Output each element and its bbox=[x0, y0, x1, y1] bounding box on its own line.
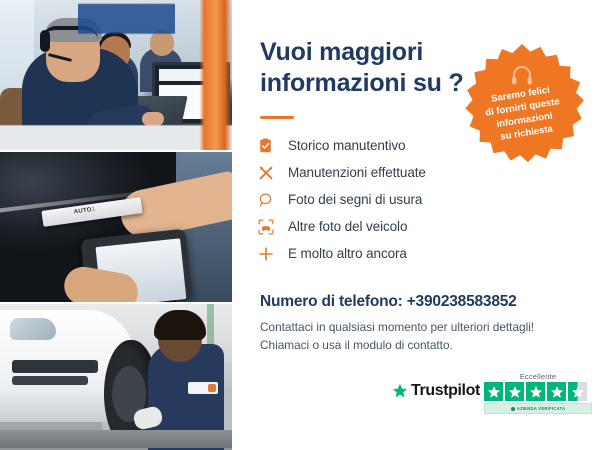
trustpilot-logo: Trustpilot bbox=[392, 382, 480, 400]
star-1 bbox=[484, 382, 503, 401]
phone-label: Numero di telefono: bbox=[260, 293, 403, 310]
background-worker-3-head bbox=[150, 30, 174, 56]
feature-item-foto-dei-segni-di-usura: Foto dei segni di usura bbox=[258, 186, 578, 213]
car-grille-lower bbox=[12, 376, 88, 385]
title-underline-rule bbox=[260, 116, 294, 119]
contact-subtext-line-1: Contattaci in qualsiasi momento per ulte… bbox=[260, 318, 590, 336]
trustpilot-star-row bbox=[484, 382, 592, 401]
magnifier-icon bbox=[258, 192, 288, 208]
contact-subtext: Contattaci in qualsiasi momento per ulte… bbox=[260, 318, 590, 354]
verified-business-badge: AZIENDA VERIFICATA bbox=[484, 403, 592, 414]
plus-icon bbox=[258, 246, 288, 262]
feature-item-altre-foto-del-veicolo: Altre foto del veicolo bbox=[258, 213, 578, 240]
feature-item-manutenzioni-effettuate: Manutenzioni effettuate bbox=[258, 159, 578, 186]
office-chair bbox=[0, 88, 30, 138]
foreground-agent-arm bbox=[87, 104, 156, 139]
background-worker-2-hair bbox=[99, 32, 131, 48]
phone-number[interactable]: +390238583852 bbox=[407, 293, 517, 310]
clipboard-check-icon bbox=[258, 138, 288, 153]
contact-subtext-line-2: Chiamaci o usa il modulo di contatto. bbox=[260, 336, 590, 354]
feature-label: Altre foto del veicolo bbox=[288, 219, 407, 234]
background-worker-2-head bbox=[100, 36, 130, 70]
photo-technician-measuring-paint-with-tablet: AUTO1 bbox=[0, 150, 232, 302]
feature-item-storico-manutentivo: Storico manutentivo bbox=[258, 132, 578, 159]
car-headlight bbox=[10, 318, 56, 340]
car-grille-upper bbox=[12, 360, 98, 373]
wrench-screwdriver-icon bbox=[258, 165, 288, 181]
window-light bbox=[0, 0, 34, 118]
star-5-half bbox=[568, 382, 587, 401]
desktop-monitor bbox=[152, 62, 230, 126]
background-worker-3 bbox=[140, 48, 182, 92]
photo-call-center-agents-with-headsets bbox=[0, 0, 232, 150]
feature-label: Manutenzioni effettuate bbox=[288, 165, 426, 180]
foreground-agent-head bbox=[46, 22, 100, 82]
trustpilot-wordmark: Trustpilot bbox=[411, 382, 480, 400]
page-title: Vuoi maggiori informazioni su ? bbox=[260, 37, 480, 99]
photo-mechanic-inspecting-white-car-wheel bbox=[0, 302, 232, 450]
verified-business-label: AZIENDA VERIFICATA bbox=[517, 406, 566, 411]
star-3 bbox=[526, 382, 545, 401]
background-worker-2 bbox=[84, 52, 138, 110]
headset-microphone bbox=[48, 53, 72, 62]
laptop bbox=[112, 96, 187, 130]
trustpilot-widget[interactable]: Trustpilot Eccellente AZIENDA VERIFICATA bbox=[392, 372, 592, 414]
phone-line: Numero di telefono: +390238583852 bbox=[260, 293, 517, 311]
feature-list: Storico manutentivo Manutenzioni effettu… bbox=[258, 132, 578, 267]
trustpilot-rating-label: Eccellente bbox=[484, 372, 592, 381]
car-lift-platform bbox=[0, 430, 232, 448]
trustpilot-star-icon bbox=[392, 383, 408, 399]
feature-label: E molto altro ancora bbox=[288, 246, 407, 261]
scan-car-icon bbox=[258, 219, 288, 235]
foreground-agent-body bbox=[22, 48, 138, 150]
content-panel: Vuoi maggiori informazioni su ? Saremo f… bbox=[232, 0, 600, 450]
headset-band bbox=[42, 26, 98, 40]
star-4 bbox=[547, 382, 566, 401]
trustpilot-rating: Eccellente AZIENDA VERIFICATA bbox=[484, 372, 592, 414]
verified-check-icon bbox=[511, 407, 515, 411]
feature-item-e-molto-altro-ancora: E molto altro ancora bbox=[258, 240, 578, 267]
uniform-logo-patch bbox=[188, 382, 218, 394]
star-2 bbox=[505, 382, 524, 401]
foreground-agent-hand bbox=[142, 112, 164, 126]
feature-label: Foto dei segni di usura bbox=[288, 192, 422, 207]
headset-earcup bbox=[40, 30, 50, 52]
photo-strip: AUTO1 bbox=[0, 0, 232, 450]
promo-banner: AUTO1 Vuoi maggiori informazioni su ? bbox=[0, 0, 600, 450]
foreground-agent-hair bbox=[44, 18, 102, 42]
page-title-line-1: Vuoi maggiori bbox=[260, 37, 480, 68]
page-title-line-2: informazioni su ? bbox=[260, 68, 480, 99]
feature-label: Storico manutentivo bbox=[288, 138, 405, 153]
